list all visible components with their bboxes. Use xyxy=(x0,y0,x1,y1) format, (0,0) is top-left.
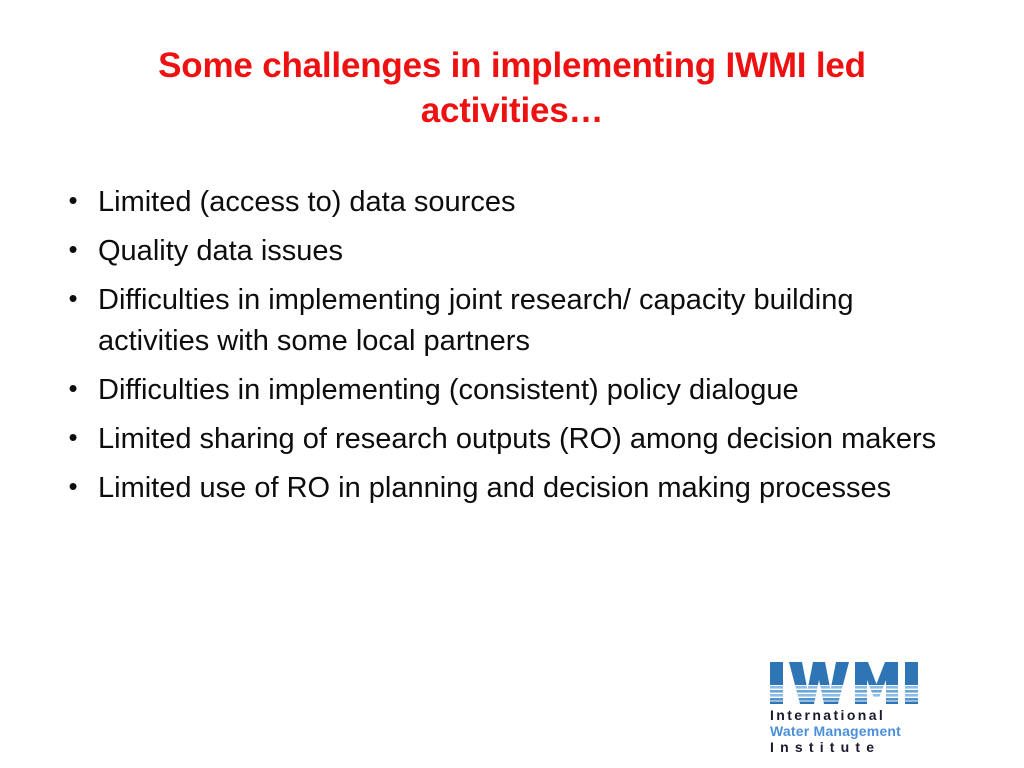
list-item: • Quality data issues xyxy=(56,231,956,273)
iwmi-logo-graphic: International Water Management Institute xyxy=(766,660,950,754)
list-item-label: Limited sharing of research outputs (RO)… xyxy=(98,419,956,461)
bullet-marker-icon: • xyxy=(64,182,82,219)
logo-line-international: International xyxy=(770,707,885,723)
iwmi-wordmark-icon xyxy=(770,662,918,704)
list-item-label: Quality data issues xyxy=(98,231,956,273)
bullet-marker-icon: • xyxy=(64,468,82,505)
page-title: Some challenges in implementing IWMI led… xyxy=(80,44,944,134)
bullet-marker-icon: • xyxy=(64,231,82,268)
bullet-marker-icon: • xyxy=(64,419,82,456)
logo-line-water-management: Water Management xyxy=(770,723,901,739)
list-item-label: Limited use of RO in planning and decisi… xyxy=(98,468,956,510)
list-item-label: Difficulties in implementing joint resea… xyxy=(98,280,956,364)
list-item-label: Difficulties in implementing (consistent… xyxy=(98,370,956,412)
list-item-label: Limited (access to) data sources xyxy=(98,182,956,224)
bullet-marker-icon: • xyxy=(64,370,82,407)
list-item: • Difficulties in implementing (consiste… xyxy=(56,370,956,412)
bullet-list: • Limited (access to) data sources • Qua… xyxy=(56,182,956,516)
slide-canvas: Some challenges in implementing IWMI led… xyxy=(0,0,1024,768)
iwmi-logo: International Water Management Institute xyxy=(766,660,950,754)
list-item: • Limited sharing of research outputs (R… xyxy=(56,419,956,461)
list-item: • Limited use of RO in planning and deci… xyxy=(56,468,956,510)
list-item: • Limited (access to) data sources xyxy=(56,182,956,224)
bullet-marker-icon: • xyxy=(64,280,82,317)
logo-line-institute: Institute xyxy=(770,739,880,754)
list-item: • Difficulties in implementing joint res… xyxy=(56,280,956,364)
